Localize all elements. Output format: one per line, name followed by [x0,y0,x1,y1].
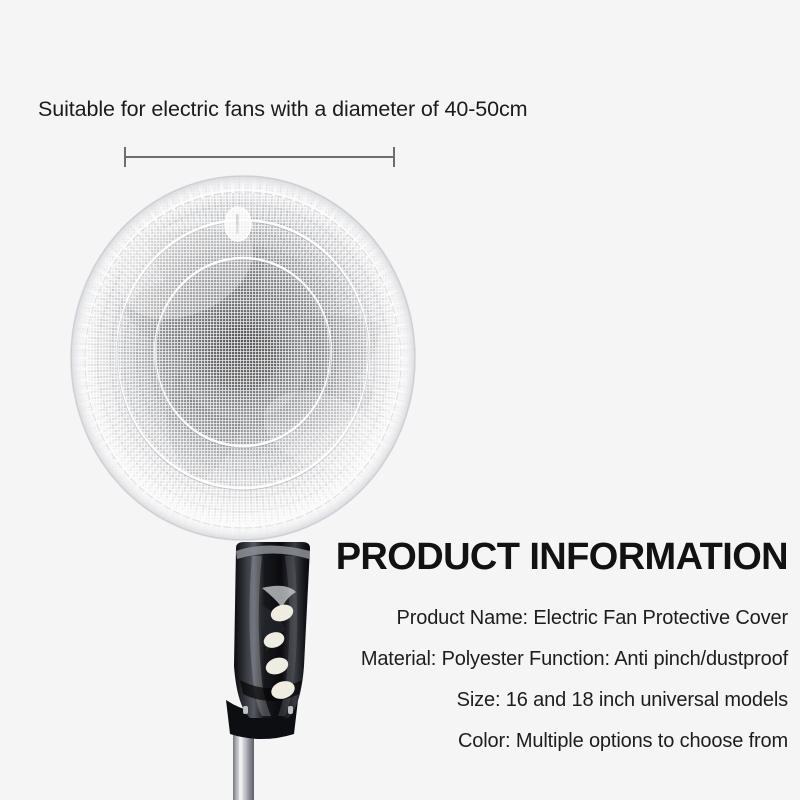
product-marketing-image: Suitable for electric fans with a diamet… [0,0,800,800]
fan-motor-housing [226,542,310,739]
fan-button-3 [264,655,291,677]
diameter-measure-bar [124,147,395,167]
fan-protective-cover: radial [71,176,415,540]
product-information-heading: PRODUCT INFORMATION [308,536,788,578]
headline-text: Suitable for electric fans with a diamet… [38,97,527,122]
fan-button-2 [262,630,287,651]
spec-product-name: Product Name: Electric Fan Protective Co… [308,598,788,639]
spec-material-function: Material: Polyester Function: Anti pinch… [308,639,788,680]
fan-button-4 [269,678,297,702]
cover-ring-shadows [85,192,401,528]
measure-rule [124,156,395,158]
cover-logo-badge [225,207,251,241]
spec-color: Color: Multiple options to choose from [308,721,788,762]
fan-blades [123,228,381,482]
fan-pole [233,735,254,800]
product-information-block: PRODUCT INFORMATION Product Name: Electr… [308,536,788,762]
spec-size: Size: 16 and 18 inch universal models [308,680,788,721]
fan-button-1 [269,602,296,624]
measure-cap-right [393,147,395,167]
fan-hub [179,296,307,420]
cover-stitch-rings [85,190,401,526]
fan-control-buttons [262,602,297,702]
